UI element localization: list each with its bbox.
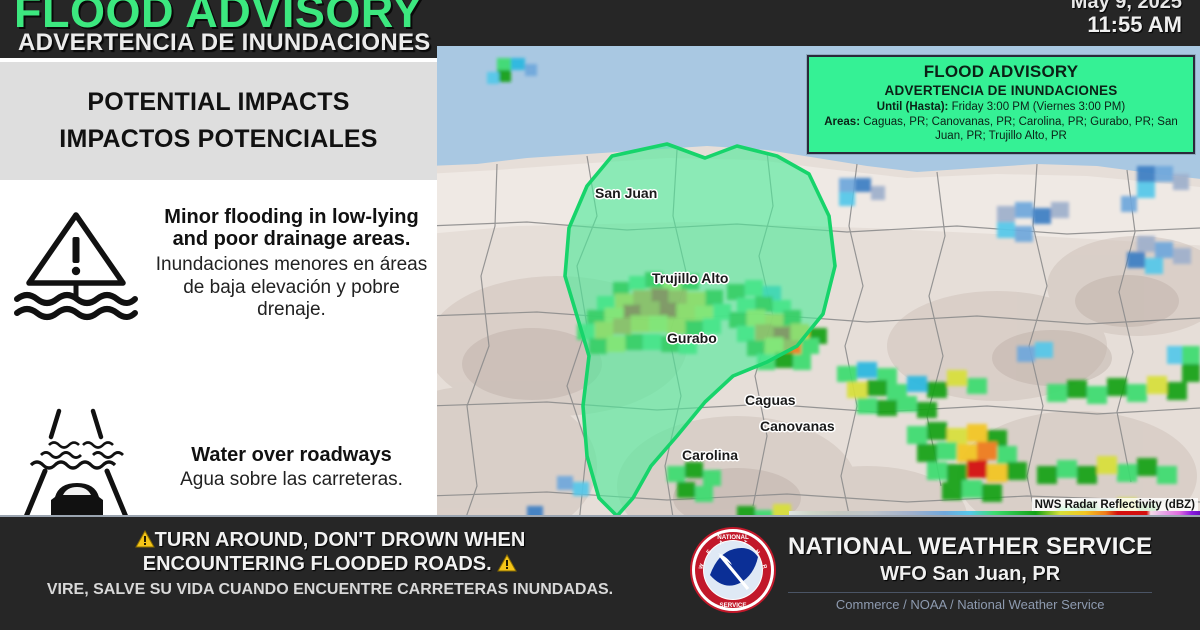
city-label-canovanas: Canovanas	[760, 418, 835, 434]
city-label-carolina: Carolina	[682, 447, 738, 463]
city-label-caguas: Caguas	[745, 392, 796, 408]
tadd-text-en-1: TURN AROUND, DON'T DROWN WHEN	[155, 529, 526, 551]
impacts-heading-es: IMPACTOS POTENCIALES	[59, 125, 377, 154]
warning-triangle-icon	[135, 530, 155, 548]
impact-text-es: Agua sobre las carreteras.	[152, 469, 431, 492]
flood-water-warning-icon	[0, 205, 152, 323]
impact-text-en: Minor flooding in low-lying and poor dra…	[152, 206, 431, 251]
advisory-title-en: FLOOD ADVISORY	[809, 62, 1193, 82]
advisory-areas: Areas: Caguas, PR; Canovanas, PR; Caroli…	[809, 115, 1193, 144]
page-subtitle: ADVERTENCIA DE INUNDACIONES	[18, 29, 431, 57]
radar-legend-title: NWS Radar Reflectivity (dBZ)	[1032, 498, 1198, 512]
impact-item-flooding: Minor flooding in low-lying and poor dra…	[0, 194, 437, 334]
water-over-roadway-icon	[0, 405, 152, 531]
turn-around-dont-drown-message: TURN AROUND, DON'T DROWN WHEN ENCOUNTERI…	[10, 529, 650, 599]
nws-footer: NATIONAL SERVICE W E A R H T NATIONAL WE…	[690, 527, 1152, 613]
advisory-areas-value: Caguas, PR; Canovanas, PR; Carolina, PR;…	[863, 116, 1178, 142]
tadd-text-es: VIRE, SALVE SU VIDA CUANDO ENCUENTRE CAR…	[10, 580, 650, 599]
advisory-areas-label: Areas:	[824, 116, 860, 128]
tadd-line-2: ENCOUNTERING FLOODED ROADS.	[10, 553, 650, 577]
impact-text-roadways: Water over roadways Agua sobre las carre…	[152, 444, 437, 492]
svg-text:SERVICE: SERVICE	[719, 602, 746, 609]
header-time: 11:55 AM	[1087, 12, 1182, 38]
impact-text-flooding: Minor flooding in low-lying and poor dra…	[152, 206, 437, 323]
flood-advisory-graphic: FLOOD ADVISORY ADVERTENCIA DE INUNDACION…	[0, 0, 1200, 630]
advisory-title-es: ADVERTENCIA DE INUNDACIONES	[809, 83, 1193, 98]
tadd-line-1: TURN AROUND, DON'T DROWN WHEN	[10, 529, 650, 553]
tadd-text-en-2: ENCOUNTERING FLOODED ROADS.	[143, 553, 492, 575]
warning-triangle-icon	[497, 554, 517, 572]
advisory-info-box: FLOOD ADVISORY ADVERTENCIA DE INUNDACION…	[807, 55, 1195, 154]
impacts-heading: POTENTIAL IMPACTS IMPACTOS POTENCIALES	[0, 62, 437, 180]
nws-office-name: WFO San Juan, PR	[788, 563, 1152, 586]
potential-impacts-panel: POTENTIAL IMPACTS IMPACTOS POTENCIALES M…	[0, 58, 437, 515]
impact-item-roadways: Water over roadways Agua sobre las carre…	[0, 403, 437, 533]
nws-tagline: Commerce / NOAA / National Weather Servi…	[788, 592, 1152, 612]
city-label-gurabo: Gurabo	[667, 330, 717, 346]
radar-map[interactable]: FLOOD ADVISORY ADVERTENCIA DE INUNDACION…	[437, 46, 1200, 543]
impacts-heading-en: POTENTIAL IMPACTS	[87, 88, 349, 117]
impact-text-en: Water over roadways	[152, 444, 431, 467]
nws-seal-icon: NATIONAL SERVICE W E A R H T	[690, 527, 776, 613]
city-label-trujillo-alto: Trujillo Alto	[652, 270, 728, 286]
advisory-until: Until (Hasta): Friday 3:00 PM (Viernes 3…	[809, 101, 1193, 113]
impact-text-es: Inundaciones menores en áreas de baja el…	[152, 254, 431, 322]
city-label-san-juan: San Juan	[595, 185, 657, 201]
bottom-banner: TURN AROUND, DON'T DROWN WHEN ENCOUNTERI…	[0, 515, 1200, 630]
nws-agency-name: NATIONAL WEATHER SERVICE	[788, 533, 1152, 561]
advisory-until-value: Friday 3:00 PM (Viernes 3:00 PM)	[952, 101, 1126, 113]
advisory-until-label: Until (Hasta):	[877, 101, 949, 113]
